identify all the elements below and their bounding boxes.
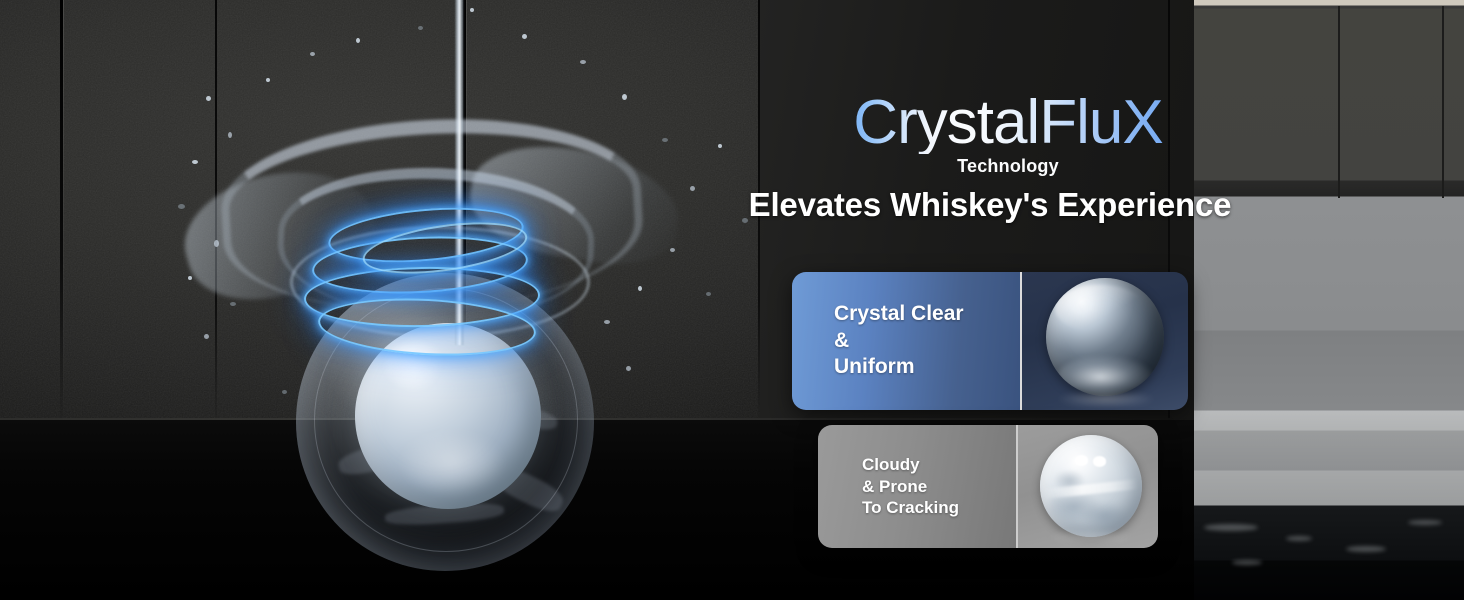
water-ripple <box>1232 560 1262 565</box>
water-droplet <box>356 38 360 43</box>
brand-subtitle: Technology <box>836 156 1180 177</box>
sphere-reflection <box>1048 529 1134 544</box>
crystalflux-promo-banner: CrystalFluX Technology Elevates Whiskey'… <box>0 0 1464 600</box>
water-droplet <box>192 160 198 164</box>
stone-seam <box>1442 6 1444 198</box>
water-droplet <box>418 26 423 30</box>
clear-ice-sphere-image <box>1022 272 1188 410</box>
water-droplet <box>214 240 219 247</box>
card-text-panel: Crystal Clear & Uniform <box>792 272 1020 410</box>
water-droplet <box>638 286 642 291</box>
water-ripple <box>1204 524 1258 531</box>
water-droplet <box>178 204 185 209</box>
water-ripple <box>1346 546 1386 552</box>
water-ripple <box>1408 520 1442 525</box>
water-droplet <box>310 52 315 56</box>
card-label: Crystal Clear & Uniform <box>792 301 964 382</box>
water-ripple <box>1286 536 1312 541</box>
water-droplet <box>604 320 610 324</box>
water-droplet <box>622 94 627 100</box>
water-droplet <box>470 8 474 12</box>
sphere-reflection <box>1056 390 1156 408</box>
brand-name: CrystalFluX <box>836 92 1180 154</box>
card-label: Cloudy & Prone To Cracking <box>818 454 959 519</box>
water-droplet <box>188 276 192 280</box>
water-droplet <box>706 292 711 296</box>
crystalflux-blue-vortex-rings <box>300 195 600 385</box>
clear-ice-sphere <box>1046 278 1164 396</box>
water-droplet <box>662 138 668 142</box>
water-droplet <box>230 302 236 306</box>
water-droplet <box>522 34 527 39</box>
wall-seam-highlight <box>63 0 64 430</box>
cloudy-ice-sphere-image <box>1018 425 1158 548</box>
water-droplet <box>670 248 675 252</box>
water-droplet <box>580 60 586 64</box>
page-title: Elevates Whiskey's Experience <box>700 186 1280 224</box>
water-droplet <box>228 132 232 138</box>
comparison-card-cloudy[interactable]: Cloudy & Prone To Cracking <box>818 425 1158 548</box>
water-droplet <box>204 334 209 339</box>
gray-stone-counter-backdrop <box>1194 0 1464 600</box>
water-droplet <box>690 186 695 191</box>
water-droplet <box>266 78 270 82</box>
brand-logo: CrystalFluX Technology <box>836 92 1180 177</box>
water-droplet <box>206 96 211 101</box>
water-droplet <box>718 144 722 148</box>
water-droplet <box>626 366 631 371</box>
cloudy-ice-sphere <box>1040 435 1142 537</box>
ice-ball-in-water-splash <box>170 0 770 570</box>
water-droplet <box>282 390 287 394</box>
stone-seam <box>1338 6 1340 198</box>
card-text-panel: Cloudy & Prone To Cracking <box>818 425 1016 548</box>
comparison-card-crystal-clear[interactable]: Crystal Clear & Uniform <box>792 272 1188 410</box>
